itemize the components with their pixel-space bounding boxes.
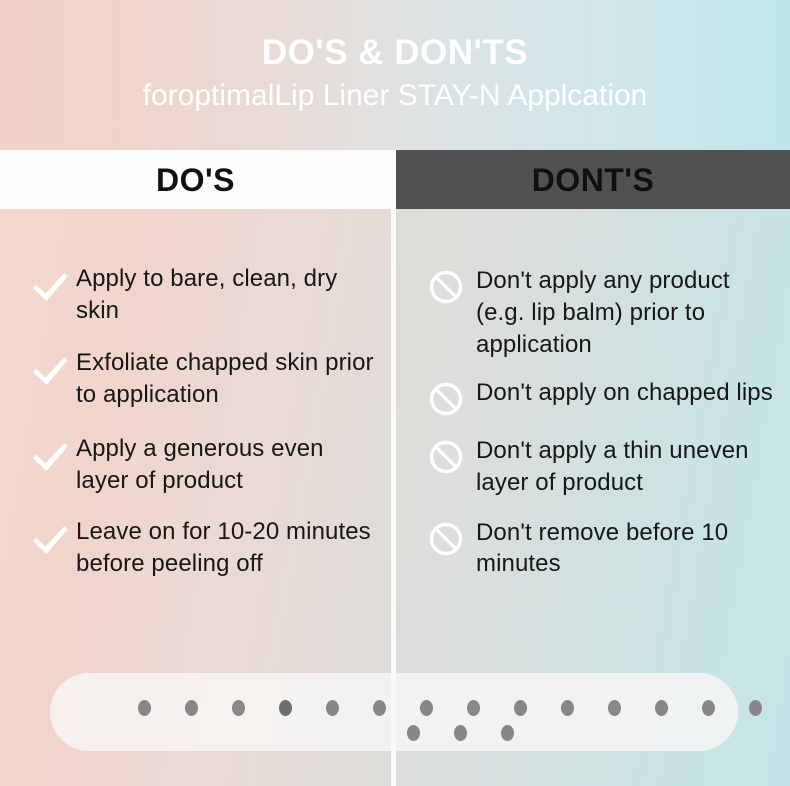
page-title: DO'S & DON'TS [262,34,528,73]
donts-heading: DONT'S [532,164,655,196]
footer-dot [655,700,668,716]
list-item: Apply to bare, clean, dry skin [0,263,391,327]
header-banner: DO'S & DON'TS foroptimalLip Liner STAY-N… [0,0,790,150]
column-header-bars: DO'S DONT'S [0,150,790,209]
list-item: Don't apply a thin uneven layer of produ… [396,435,790,499]
dos-item-text: Apply a generous even layer of product [76,433,376,497]
footer-dot [279,700,292,716]
check-icon [30,516,76,558]
footer-dot [501,725,514,741]
footer-dot [514,700,527,716]
donts-header-bar: DONT'S [396,150,790,209]
list-item: Don't apply on chapped lips [396,377,790,417]
list-item: Exfoliate chapped skin prior to applicat… [0,347,391,411]
footer-dot [407,725,420,741]
donts-item-text: Don't apply on chapped lips [476,377,773,409]
footer-dot [138,700,151,716]
list-item: Leave on for 10-20 minutes before peelin… [0,516,391,580]
dos-item-text: Apply to bare, clean, dry skin [76,263,376,327]
check-icon [30,263,76,305]
check-icon [30,347,76,389]
donts-list: Don't apply any product (e.g. lip balm) … [396,209,790,580]
footer-dot [420,700,433,716]
footer-dot [373,700,386,716]
dos-item-text: Leave on for 10-20 minutes before peelin… [76,516,376,580]
footer-dot [185,700,198,716]
dos-header-bar: DO'S [0,150,391,209]
prohibition-icon [428,517,476,557]
dos-item-text: Exfoliate chapped skin prior to applicat… [76,347,376,411]
page-subtitle: foroptimalLip Liner STAY-N Applcation [143,79,648,112]
list-item: Don't apply any product (e.g. lip balm) … [396,265,790,361]
footer-dot [749,700,762,716]
footer-dot [467,700,480,716]
donts-item-text: Don't apply a thin uneven layer of produ… [476,435,776,499]
dos-heading: DO'S [156,164,235,196]
footer-dot [454,725,467,741]
prohibition-icon [428,377,476,417]
list-item: Don't remove before 10 minutes [396,517,790,581]
prohibition-icon [428,265,476,305]
footer-dot-panel [50,673,738,751]
footer-dot [326,700,339,716]
check-icon [30,433,76,475]
prohibition-icon [428,435,476,475]
donts-item-text: Don't apply any product (e.g. lip balm) … [476,265,776,361]
poster-root: DO'S & DON'TS foroptimalLip Liner STAY-N… [0,0,790,786]
footer-dot [608,700,621,716]
footer-dot [232,700,245,716]
footer-dot [561,700,574,716]
footer-dot [702,700,715,716]
dos-list: Apply to bare, clean, dry skin Exfoliate… [0,209,391,580]
donts-item-text: Don't remove before 10 minutes [476,517,776,581]
list-item: Apply a generous even layer of product [0,433,391,497]
